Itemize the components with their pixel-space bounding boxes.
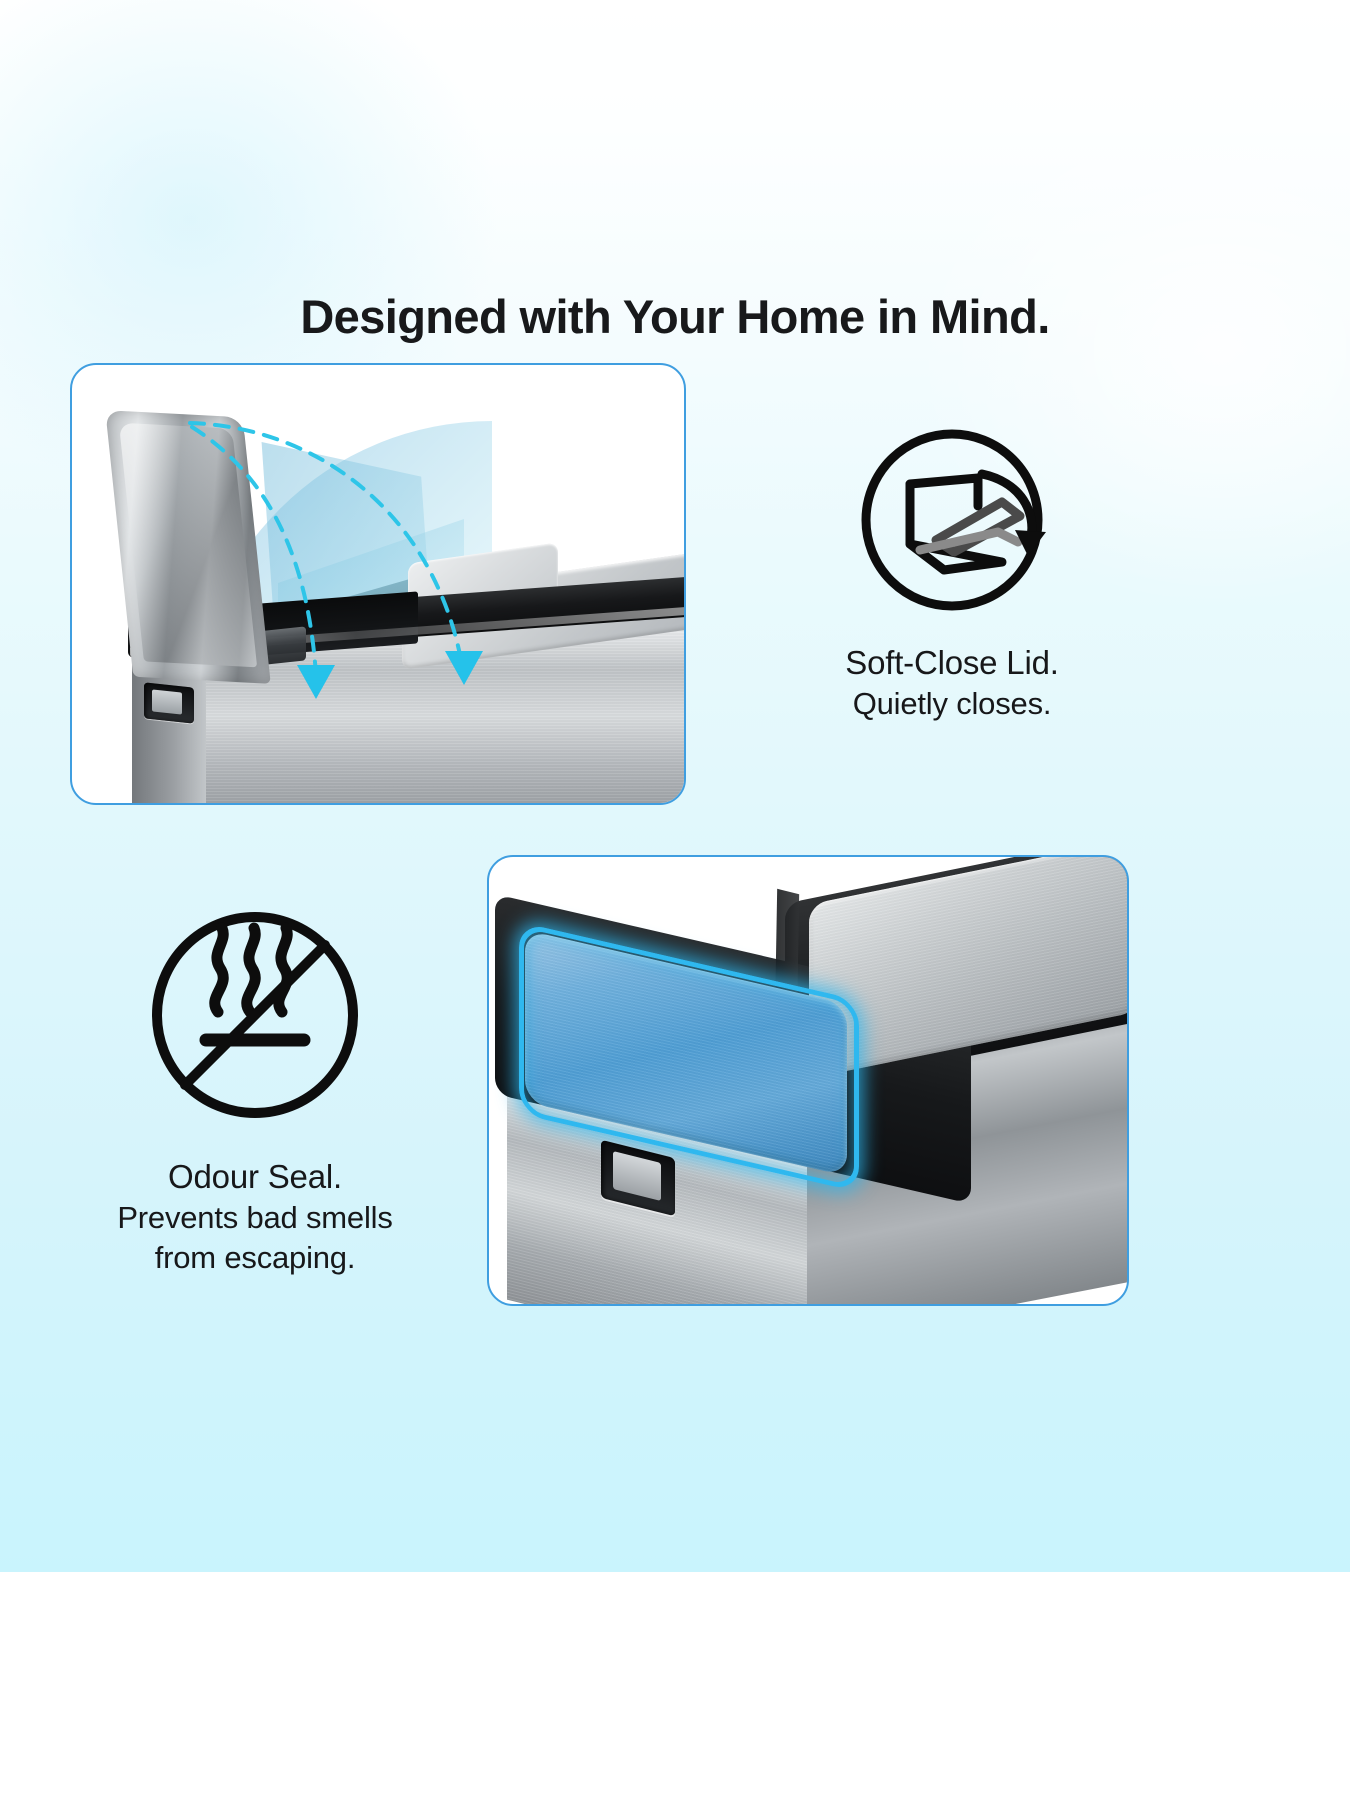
soft-close-title: Soft-Close Lid. [742,642,1162,684]
lid-motion-arrow-outer [445,651,483,685]
odour-seal-title: Odour Seal. [40,1156,470,1198]
soft-close-product-photo [72,365,684,803]
no-odour-icon [140,900,370,1130]
odour-seal-photo-panel [487,855,1129,1306]
soft-close-photo-panel [70,363,686,805]
feature-odour-seal: Odour Seal. Prevents bad smells from esc… [40,900,470,1278]
odour-seal-subtitle-line1: Prevents bad smells [40,1198,470,1238]
lid-motion-indicator [72,365,684,803]
feature-soft-close-lid: Soft-Close Lid. Quietly closes. [742,420,1162,724]
soft-close-subtitle: Quietly closes. [742,684,1162,724]
soft-close-lid-icon [852,420,1052,620]
soft-close-caption: Soft-Close Lid. Quietly closes. [742,642,1162,724]
lid-motion-arc-inner [192,427,316,675]
lid-motion-arrow-inner [297,665,335,699]
lid-motion-arc-outer [190,423,464,677]
page-title: Designed with Your Home in Mind. [0,289,1350,344]
odour-seal-product-photo [489,857,1127,1304]
odour-seal-caption: Odour Seal. Prevents bad smells from esc… [40,1156,470,1278]
odour-seal-subtitle-line2: from escaping. [40,1238,470,1278]
page-background-bottom [0,1572,1350,1800]
